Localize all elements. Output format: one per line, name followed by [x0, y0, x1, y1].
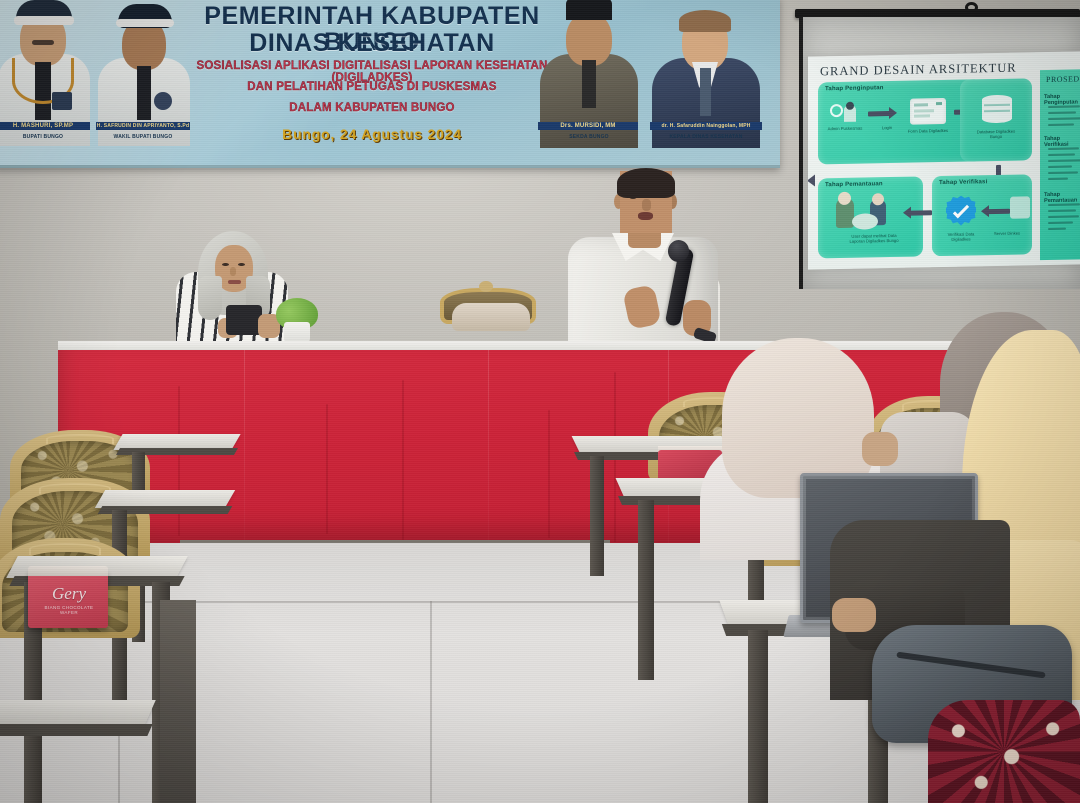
slide-box-label-3: Tahap Verifikasi [939, 179, 987, 186]
banner-portrait-sekda: Drs. MURSIDI, MM SEKDA BUNGO [534, 0, 644, 148]
slide-arrow-4 [988, 209, 1010, 214]
speaker-mouth [638, 212, 653, 220]
desk-bottom-left-edge [0, 724, 153, 736]
banner-date: Bungo, 24 Agustus 2024 [162, 126, 582, 142]
banner-portrait-name-4: dr. H. Safaruddin Nainggolan, MPH [650, 122, 762, 130]
banner-portrait-role-1: BUPATI BUNGO [0, 134, 92, 140]
snack-box-left-lid [28, 566, 108, 576]
slide-box-label-2: Tahap Pemantauan [825, 181, 883, 188]
banner-subtitle-2: DAN PELATIHAN PETUGAS DI PUSKESMAS [162, 81, 582, 93]
slide-caption-1a: Admin Puskesmas [822, 125, 868, 131]
banner-subtitle-3: DALAM KABUPATEN BUNGO [162, 102, 582, 114]
event-banner: H. MASHURI, SP.MP BUPATI BUNGO H. SAFRUD… [0, 0, 780, 168]
slide-title: GRAND DESAIN ARSITEKTUR [820, 61, 1017, 80]
desk-left-panel [160, 600, 196, 803]
slide-procedure-panel: PROSEDUR Tahap Penginputan Tahap Verifik… [1040, 69, 1080, 260]
head-table-chair-knob [479, 281, 493, 292]
slide-caption-3b: Server Dinkes [984, 230, 1030, 236]
panel-section-1: Tahap Penginputan [1044, 93, 1080, 106]
banner-portrait-name-3: Drs. MURSIDI, MM [538, 122, 638, 130]
desk-front-right-leg [748, 630, 768, 803]
slide-caption-1c: Form Data Digiladkes [905, 128, 951, 134]
audience-dark-hand [832, 598, 876, 632]
panel-section-3: Tahap Pemantauan [1044, 191, 1080, 204]
banner-portrait-name-1: H. MASHURI, SP.MP [0, 122, 90, 130]
snack-box-brand-label: Gery [40, 583, 98, 605]
banner-portrait-bupati: H. MASHURI, SP.MP BUPATI BUNGO [0, 0, 92, 146]
speaker-hair [617, 168, 675, 198]
snack-box-sub-label: BIANG CHOCOLATE WAFER [36, 605, 102, 615]
slide-panel-title: PROSEDUR [1046, 74, 1080, 84]
slide-caption-2a: User dapat melihat Data Laporan Digiladk… [846, 233, 902, 244]
audience-batik-clothing [928, 700, 1080, 803]
desk-right-mid-leg [638, 500, 654, 680]
slide-caption-3a: Verifikasi Data Digiladkes [938, 231, 984, 242]
banner-title-line2: DINAS KESEHATAN [162, 30, 582, 56]
slide-caption-db: Database Digiladkes Bungo [973, 129, 1019, 140]
panel-section-2: Tahap Verifikasi [1044, 135, 1080, 148]
slide-box-penginputan: Tahap Penginputan Admin Puskesmas Login … [818, 79, 983, 164]
banner-portrait-kadis: dr. H. Safaruddin Nainggolan, MPH KEPALA… [646, 0, 766, 148]
slide-box-label-1: Tahap Penginputan [825, 85, 884, 92]
photo-scene: H. MASHURI, SP.MP BUPATI BUNGO H. SAFRUD… [0, 0, 1080, 803]
slide-box-verifikasi: Tahap Verifikasi Verifikasi Data Digilad… [932, 174, 1032, 256]
slide-arrow-5 [910, 210, 932, 215]
smartphone [226, 305, 262, 335]
slide-arrow-1 [868, 111, 890, 116]
folded-cloth-bundle [452, 303, 530, 331]
audience-taupe-hand [862, 432, 898, 466]
banner-portrait-role-3: SEKDA BUNGO [534, 134, 644, 140]
seated-woman-hijab-drape-left [198, 276, 222, 320]
desk-bottom-left-top[interactable] [0, 700, 156, 726]
desk-right-back-leg [590, 456, 604, 576]
slide-caption-1b: Login [864, 125, 910, 131]
slide-box-database: Database Digiladkes Bungo [960, 78, 1032, 161]
banner-portrait-role-4: KEPALA DINAS KESEHATAN [646, 134, 766, 140]
projector-screen-hook-icon [965, 2, 978, 13]
presentation-slide: GRAND DESAIN ARSITEKTUR Tahap Penginputa… [808, 51, 1080, 269]
